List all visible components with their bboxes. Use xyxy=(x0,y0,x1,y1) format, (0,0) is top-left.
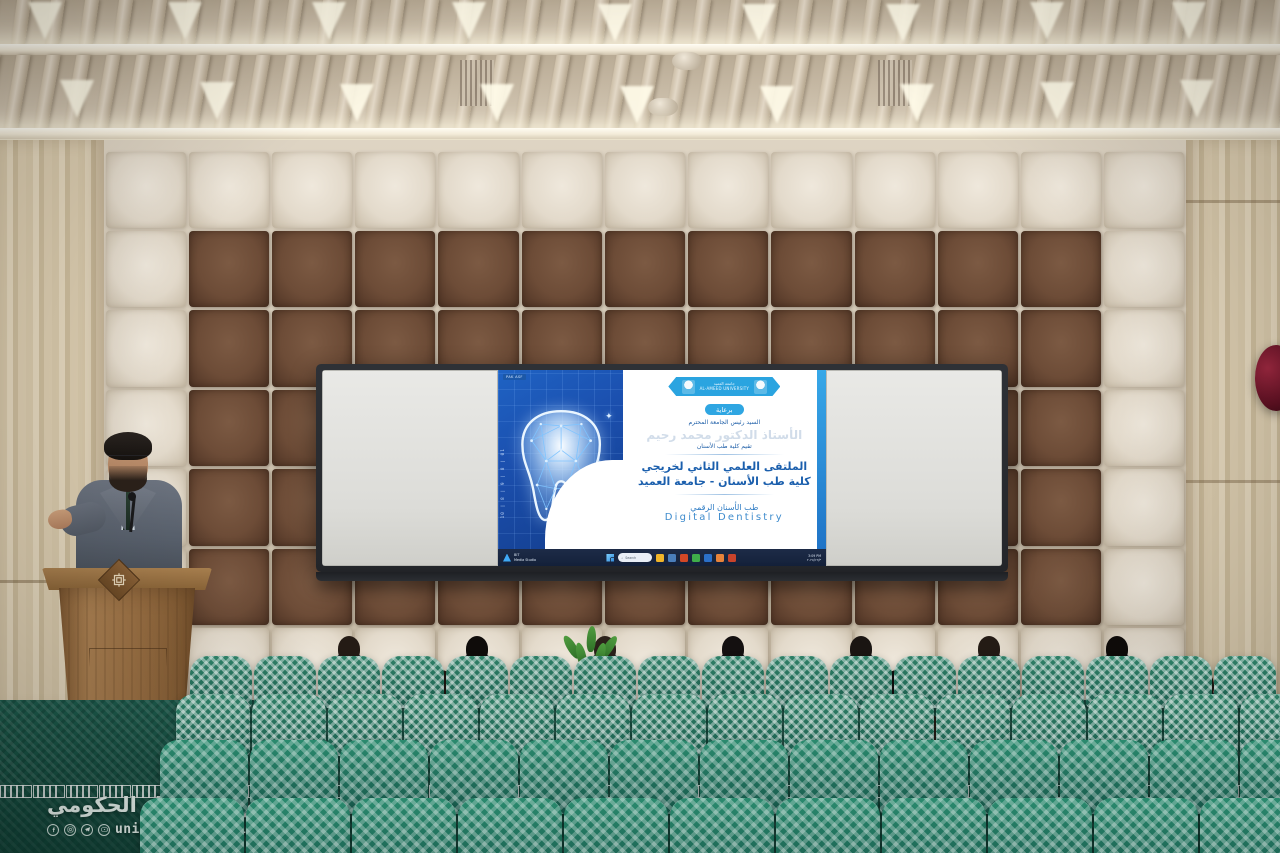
instagram-icon[interactable] xyxy=(64,824,76,836)
start-button-icon[interactable] xyxy=(606,554,614,562)
wall-pad-cream xyxy=(688,152,768,228)
downlight-icon xyxy=(28,2,62,40)
ceiling-slat xyxy=(827,0,847,44)
downlight-icon xyxy=(598,4,632,42)
brand-line-2: Media Studio xyxy=(514,558,536,562)
ceiling-slat xyxy=(691,0,711,44)
downlight-icon xyxy=(886,4,920,42)
patron-line-2: تقيم كلية طب الأسنان xyxy=(697,443,752,450)
ceiling-slat xyxy=(1113,55,1140,129)
ceiling-slat xyxy=(933,55,960,129)
ceiling-slat xyxy=(963,0,983,44)
downlight-icon xyxy=(1172,2,1206,40)
ceiling-slat xyxy=(573,55,600,129)
telegram-icon[interactable] xyxy=(81,824,93,836)
slide-header-banner: جامعة العميد AL-AMEED UNIVERSITY xyxy=(668,377,780,396)
ceiling-slat xyxy=(1133,0,1153,44)
ceiling-slat xyxy=(249,0,269,44)
auditorium-seat xyxy=(140,798,244,853)
patron-name: الأستاذ الدكتور محمد رحيم xyxy=(646,428,802,442)
ceiling-slat xyxy=(993,55,1020,129)
board-bottom-bezel xyxy=(316,572,1008,581)
wall-pad-brown xyxy=(1021,231,1101,307)
wall-pad-cream xyxy=(938,152,1018,228)
windows-taskbar[interactable]: BIT Media Studio ⌕ Search xyxy=(498,549,826,566)
powerpoint-icon[interactable] xyxy=(680,554,688,562)
kufic-glyph xyxy=(0,785,32,798)
downlight-icon xyxy=(312,2,346,40)
downlight-icon xyxy=(340,84,374,122)
ceiling-slat xyxy=(793,0,813,44)
divider-bottom xyxy=(675,494,775,495)
ceiling-slat xyxy=(215,0,235,44)
ceiling-slat xyxy=(419,0,439,44)
ceiling-slat xyxy=(1263,55,1280,129)
auditorium-seat xyxy=(776,798,880,853)
slide-graphic-panel: 10 | 8 | 9 | 8 | 01 xyxy=(498,370,623,566)
ceiling-slat xyxy=(243,55,270,129)
ceiling-slat xyxy=(93,55,120,129)
patron-line-1: السيد رئيس الجامعة المحترم xyxy=(688,419,760,426)
speaker-figure xyxy=(74,430,184,580)
auditorium-seat xyxy=(1200,798,1280,853)
wall-pad-cream xyxy=(522,152,602,228)
word-icon[interactable] xyxy=(704,554,712,562)
wall-pad-brown xyxy=(522,231,602,307)
ceiling-slat xyxy=(543,55,570,129)
projection-board[interactable]: 10 | 8 | 9 | 8 | 01 xyxy=(316,364,1008,572)
downlight-icon xyxy=(168,2,202,40)
ceiling-slat xyxy=(521,0,541,44)
ceiling-slat xyxy=(123,55,150,129)
audience-seating xyxy=(0,612,1280,853)
wall-pad-cream xyxy=(771,152,851,228)
slide-theme-english: Digital Dentistry xyxy=(665,512,784,523)
wall-pad-brown xyxy=(855,231,935,307)
taskbar-brand: BIT Media Studio xyxy=(503,553,536,561)
wall-pad-cream xyxy=(1021,152,1101,228)
auditorium-seat xyxy=(458,798,562,853)
pdf-reader-icon[interactable] xyxy=(728,554,736,562)
wall-pad-brown xyxy=(1021,469,1101,545)
wall-pad-cream xyxy=(355,152,435,228)
projected-slide: 10 | 8 | 9 | 8 | 01 xyxy=(498,370,826,566)
wall-pad-cream xyxy=(1104,310,1184,386)
ceiling xyxy=(0,0,1280,158)
ceiling-slat xyxy=(273,55,300,129)
search-icon: ⌕ xyxy=(621,556,623,560)
facebook-icon[interactable] xyxy=(47,824,59,836)
wall-pad-brown xyxy=(438,231,518,307)
ceiling-slat xyxy=(657,0,677,44)
auditorium-seat xyxy=(352,798,456,853)
edge-browser-icon[interactable] xyxy=(668,554,676,562)
ceiling-slat xyxy=(723,55,750,129)
ceiling-slat xyxy=(929,0,949,44)
slide-corner-tag: PAK ASF xyxy=(503,374,526,380)
ceiling-slat xyxy=(513,55,540,129)
downlight-icon xyxy=(1040,82,1074,120)
ceiling-slat xyxy=(147,0,167,44)
wall-pad-brown xyxy=(355,231,435,307)
wall-pad-cream xyxy=(272,152,352,228)
wall-pad-brown xyxy=(605,231,685,307)
whiteboard-right-panel xyxy=(826,370,1002,566)
ceiling-slat xyxy=(1269,0,1280,44)
file-explorer-icon[interactable] xyxy=(656,554,664,562)
ceiling-slat xyxy=(1083,55,1110,129)
ceiling-slat xyxy=(1143,55,1170,129)
divider-top xyxy=(665,454,784,455)
auditorium-seat xyxy=(670,798,774,853)
whiteboard-left-panel xyxy=(322,370,498,566)
ceiling-slat xyxy=(0,55,1,129)
wall-pad-brown xyxy=(1021,390,1101,466)
ceiling-slat xyxy=(843,55,870,129)
ceiling-slat xyxy=(79,0,99,44)
wall-pad-cream xyxy=(605,152,685,228)
microphone-icon xyxy=(128,492,136,501)
ceiling-slat xyxy=(3,55,30,129)
downlight-icon xyxy=(620,86,654,124)
banner-line2: AL-AMEED UNIVERSITY xyxy=(700,387,749,392)
ceiling-slat xyxy=(1235,0,1255,44)
ceiling-slat xyxy=(963,55,990,129)
slide-theme-arabic: طب الأسنان الرقمي xyxy=(690,503,758,512)
wall-pad-cream xyxy=(106,152,186,228)
wall-pad-cream xyxy=(1104,390,1184,466)
slide-text-panel: جامعة العميد AL-AMEED UNIVERSITY برعاية … xyxy=(623,370,826,566)
ceiling-slat xyxy=(423,55,450,129)
wall-pad-cream xyxy=(1104,152,1184,228)
ceiling-slat xyxy=(283,0,303,44)
patronage-pill: برعاية xyxy=(705,404,744,415)
ceiling-slat xyxy=(487,0,507,44)
auditorium-seat xyxy=(564,798,668,853)
ceiling-speaker-icon xyxy=(672,52,702,70)
ceiling-slat xyxy=(1099,0,1119,44)
slide-title-line-2: كلية طب الأسنان - جامعة العميد xyxy=(638,475,811,490)
downlight-icon xyxy=(1180,80,1214,118)
auditorium-seat xyxy=(882,798,986,853)
wall-pad-cream xyxy=(189,152,269,228)
downlight-icon xyxy=(200,82,234,120)
downlight-icon xyxy=(760,86,794,124)
downlight-icon xyxy=(900,84,934,122)
youtube-icon[interactable] xyxy=(98,824,110,836)
ceiling-slat xyxy=(393,55,420,129)
ceiling-slat xyxy=(1233,55,1260,129)
ceiling-slat xyxy=(351,0,371,44)
ceiling-slat xyxy=(997,0,1017,44)
wall-pad-cream xyxy=(1104,469,1184,545)
wall-pad-cream xyxy=(106,231,186,307)
excel-icon[interactable] xyxy=(692,554,700,562)
wall-pad-cream xyxy=(1104,231,1184,307)
slide-title-line-1: الملتقى العلمي الثاني لخريجي xyxy=(638,460,811,475)
wall-pad-brown xyxy=(771,231,851,307)
downlight-icon xyxy=(480,84,514,122)
wall-pad-cream xyxy=(106,310,186,386)
wall-pad-cream xyxy=(438,152,518,228)
ceiling-slat xyxy=(113,0,133,44)
auditorium-seat xyxy=(988,798,1092,853)
ceiling-slat xyxy=(385,0,405,44)
wall-pad-brown xyxy=(189,231,269,307)
downlight-icon xyxy=(742,4,776,42)
media-player-icon[interactable] xyxy=(716,554,724,562)
speaker-beard xyxy=(109,466,147,492)
ceiling-slat xyxy=(813,55,840,129)
ceiling-slat xyxy=(861,0,881,44)
screenshot-stage: 10 | 8 | 9 | 8 | 01 xyxy=(0,0,1280,853)
ceiling-slat xyxy=(33,55,60,129)
auditorium-seat xyxy=(1094,798,1198,853)
downlight-icon xyxy=(1030,2,1064,40)
wall-pad-brown xyxy=(272,231,352,307)
slide-vertical-code: 10 | 8 | 9 | 8 | 01 xyxy=(501,448,506,518)
glasses-icon xyxy=(108,455,148,462)
taskbar-clock-time: 3:09 PM xyxy=(807,554,821,558)
ceiling-slat xyxy=(303,55,330,129)
ceiling-slat xyxy=(153,55,180,129)
wall-pad-cream xyxy=(855,152,935,228)
downlight-icon xyxy=(452,2,486,40)
wall-pad-brown xyxy=(938,231,1018,307)
taskbar-search-box[interactable]: ⌕ Search xyxy=(618,553,652,562)
wall-pad-brown xyxy=(688,231,768,307)
auditorium-seat xyxy=(246,798,350,853)
brand-logo-icon xyxy=(503,554,511,562)
search-placeholder: Search xyxy=(625,556,636,560)
downlight-icon xyxy=(60,80,94,118)
wall-pad-brown xyxy=(1021,310,1101,386)
ceiling-slat xyxy=(555,0,575,44)
banner-emblem-right-icon xyxy=(682,380,695,394)
ceiling-slat xyxy=(1065,0,1085,44)
taskbar-clock-date: ٢٠٢٥/١٢/٣ xyxy=(807,558,821,562)
wall-pad-brown xyxy=(189,310,269,386)
banner-emblem-left-icon xyxy=(754,380,767,394)
slide-accent-strip xyxy=(817,370,826,566)
